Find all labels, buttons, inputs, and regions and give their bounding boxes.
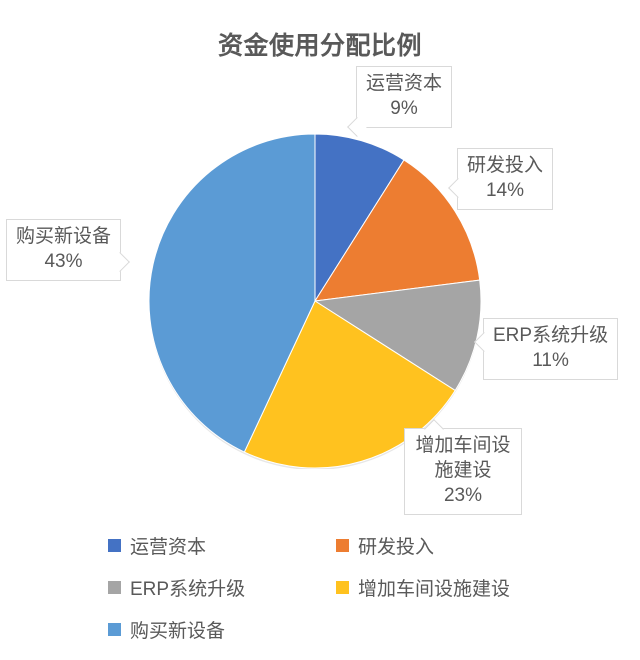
- data-label-name: 购买新设备: [16, 224, 111, 249]
- legend-item[interactable]: 购买新设备: [108, 616, 336, 643]
- data-label-percent: 9%: [366, 96, 442, 121]
- data-label-rnd-investment: 研发投入 14%: [457, 148, 553, 210]
- data-label-name: ERP系统升级: [493, 323, 608, 348]
- legend-swatch-icon: [336, 581, 349, 594]
- pie-chart-figure: 资金使用分配比例 运营资本 9% 研发投入 14% ERP系统升级 11%: [0, 0, 640, 660]
- legend-swatch-icon: [108, 581, 121, 594]
- callout-tail-icon: [110, 252, 130, 272]
- legend-item[interactable]: 增加车间设施建设: [336, 574, 578, 601]
- chart-title: 资金使用分配比例: [0, 26, 640, 62]
- legend-item-label: 研发投入: [358, 532, 434, 559]
- legend-item[interactable]: ERP系统升级: [108, 574, 336, 601]
- chart-legend: 运营资本研发投入ERP系统升级增加车间设施建设购买新设备: [108, 524, 578, 650]
- pie-plot-area: [146, 131, 482, 469]
- pie-slice-group: [149, 134, 481, 468]
- legend-item-label: 购买新设备: [130, 616, 225, 643]
- legend-item[interactable]: 研发投入: [336, 532, 578, 559]
- data-label-percent: 14%: [467, 178, 543, 203]
- data-label-new-equipment: 购买新设备 43%: [6, 219, 121, 281]
- data-label-percent: 23%: [414, 483, 512, 508]
- pie-svg: [146, 131, 482, 469]
- data-label-workshop-construction: 增加车间设施建设 23%: [404, 428, 522, 515]
- data-label-name: 研发投入: [467, 153, 543, 178]
- legend-item-label: 运营资本: [130, 532, 206, 559]
- legend-item-label: ERP系统升级: [130, 574, 245, 601]
- data-label-name: 运营资本: [366, 71, 442, 96]
- data-label-name: 增加车间设施建设: [414, 433, 512, 483]
- data-label-percent: 11%: [493, 348, 608, 373]
- legend-swatch-icon: [108, 623, 121, 636]
- data-label-percent: 43%: [16, 249, 111, 274]
- data-label-erp-upgrade: ERP系统升级 11%: [483, 318, 618, 380]
- legend-swatch-icon: [108, 539, 121, 552]
- legend-swatch-icon: [336, 539, 349, 552]
- legend-item-label: 增加车间设施建设: [358, 574, 510, 601]
- legend-item[interactable]: 运营资本: [108, 532, 336, 559]
- data-label-operating-capital: 运营资本 9%: [356, 66, 452, 128]
